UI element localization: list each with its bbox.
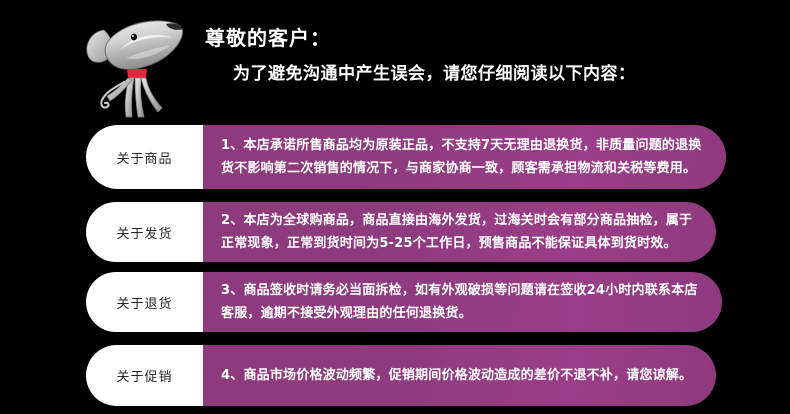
squid-illustration-icon xyxy=(74,12,186,118)
notice-row-body-promotion: 4、商品市场价格波动频繁，促销期间价格波动造成的差价不退不补，请您谅解。 xyxy=(203,345,716,406)
notice-row-body-shipping: 2、本店为全球购商品，商品直接由海外发货，过海关时会有部分商品抽检，属于 正常现… xyxy=(203,202,716,262)
page-title: 尊敬的客户： xyxy=(205,24,765,52)
notice-line: 客服，逾期不接受外观理由的任何退换货。 xyxy=(221,302,698,325)
notice-line: 3、商品签收时请务必当面拆检，如有外观破损等问题请在签收24小时内联系本店 xyxy=(221,279,698,302)
notice-row-label-promotion: 关于促销 xyxy=(86,345,203,406)
notice-line: 4、商品市场价格波动频繁，促销期间价格波动造成的差价不退不补，请您谅解。 xyxy=(221,364,692,387)
notice-line: 货不影响第二次销售的情况下，与商家协商一致，顾客需承担物流和关税等费用。 xyxy=(221,157,702,180)
notice-row-label-shipping: 关于发货 xyxy=(86,202,203,262)
notice-row-body-goods: 1、本店承诺所售商品均为原装正品，不支持7天无理由退换货，非质量问题的退换 货不… xyxy=(203,125,726,189)
notice-row-goods: 关于商品 1、本店承诺所售商品均为原装正品，不支持7天无理由退换货，非质量问题的… xyxy=(86,125,700,189)
promo-notice-banner: 尊敬的客户： 为了避免沟通中产生误会，请您仔细阅读以下内容： 关于商品 1、本店… xyxy=(0,0,790,414)
notice-row-label-returns: 关于退货 xyxy=(86,272,203,332)
notice-row-body-returns: 3、商品签收时请务必当面拆检，如有外观破损等问题请在签收24小时内联系本店 客服… xyxy=(203,272,722,332)
header-text-block: 尊敬的客户： 为了避免沟通中产生误会，请您仔细阅读以下内容： xyxy=(205,24,765,87)
notice-line: 1、本店承诺所售商品均为原装正品，不支持7天无理由退换货，非质量问题的退换 xyxy=(221,134,702,157)
notice-line: 正常现象，正常到货时间为5-25个工作日，预售商品不能保证具体到货时效。 xyxy=(221,232,692,255)
page-subtitle: 为了避免沟通中产生误会，请您仔细阅读以下内容： xyxy=(233,61,765,87)
notice-row-returns: 关于退货 3、商品签收时请务必当面拆检，如有外观破损等问题请在签收24小时内联系… xyxy=(86,272,700,332)
header: 尊敬的客户： 为了避免沟通中产生误会，请您仔细阅读以下内容： xyxy=(0,0,790,118)
notice-row-shipping: 关于发货 2、本店为全球购商品，商品直接由海外发货，过海关时会有部分商品抽检，属… xyxy=(86,202,700,262)
notice-row-label-goods: 关于商品 xyxy=(86,125,203,189)
notice-line: 2、本店为全球购商品，商品直接由海外发货，过海关时会有部分商品抽检，属于 xyxy=(221,209,692,232)
notice-row-promotion: 关于促销 4、商品市场价格波动频繁，促销期间价格波动造成的差价不退不补，请您谅解… xyxy=(86,345,700,406)
